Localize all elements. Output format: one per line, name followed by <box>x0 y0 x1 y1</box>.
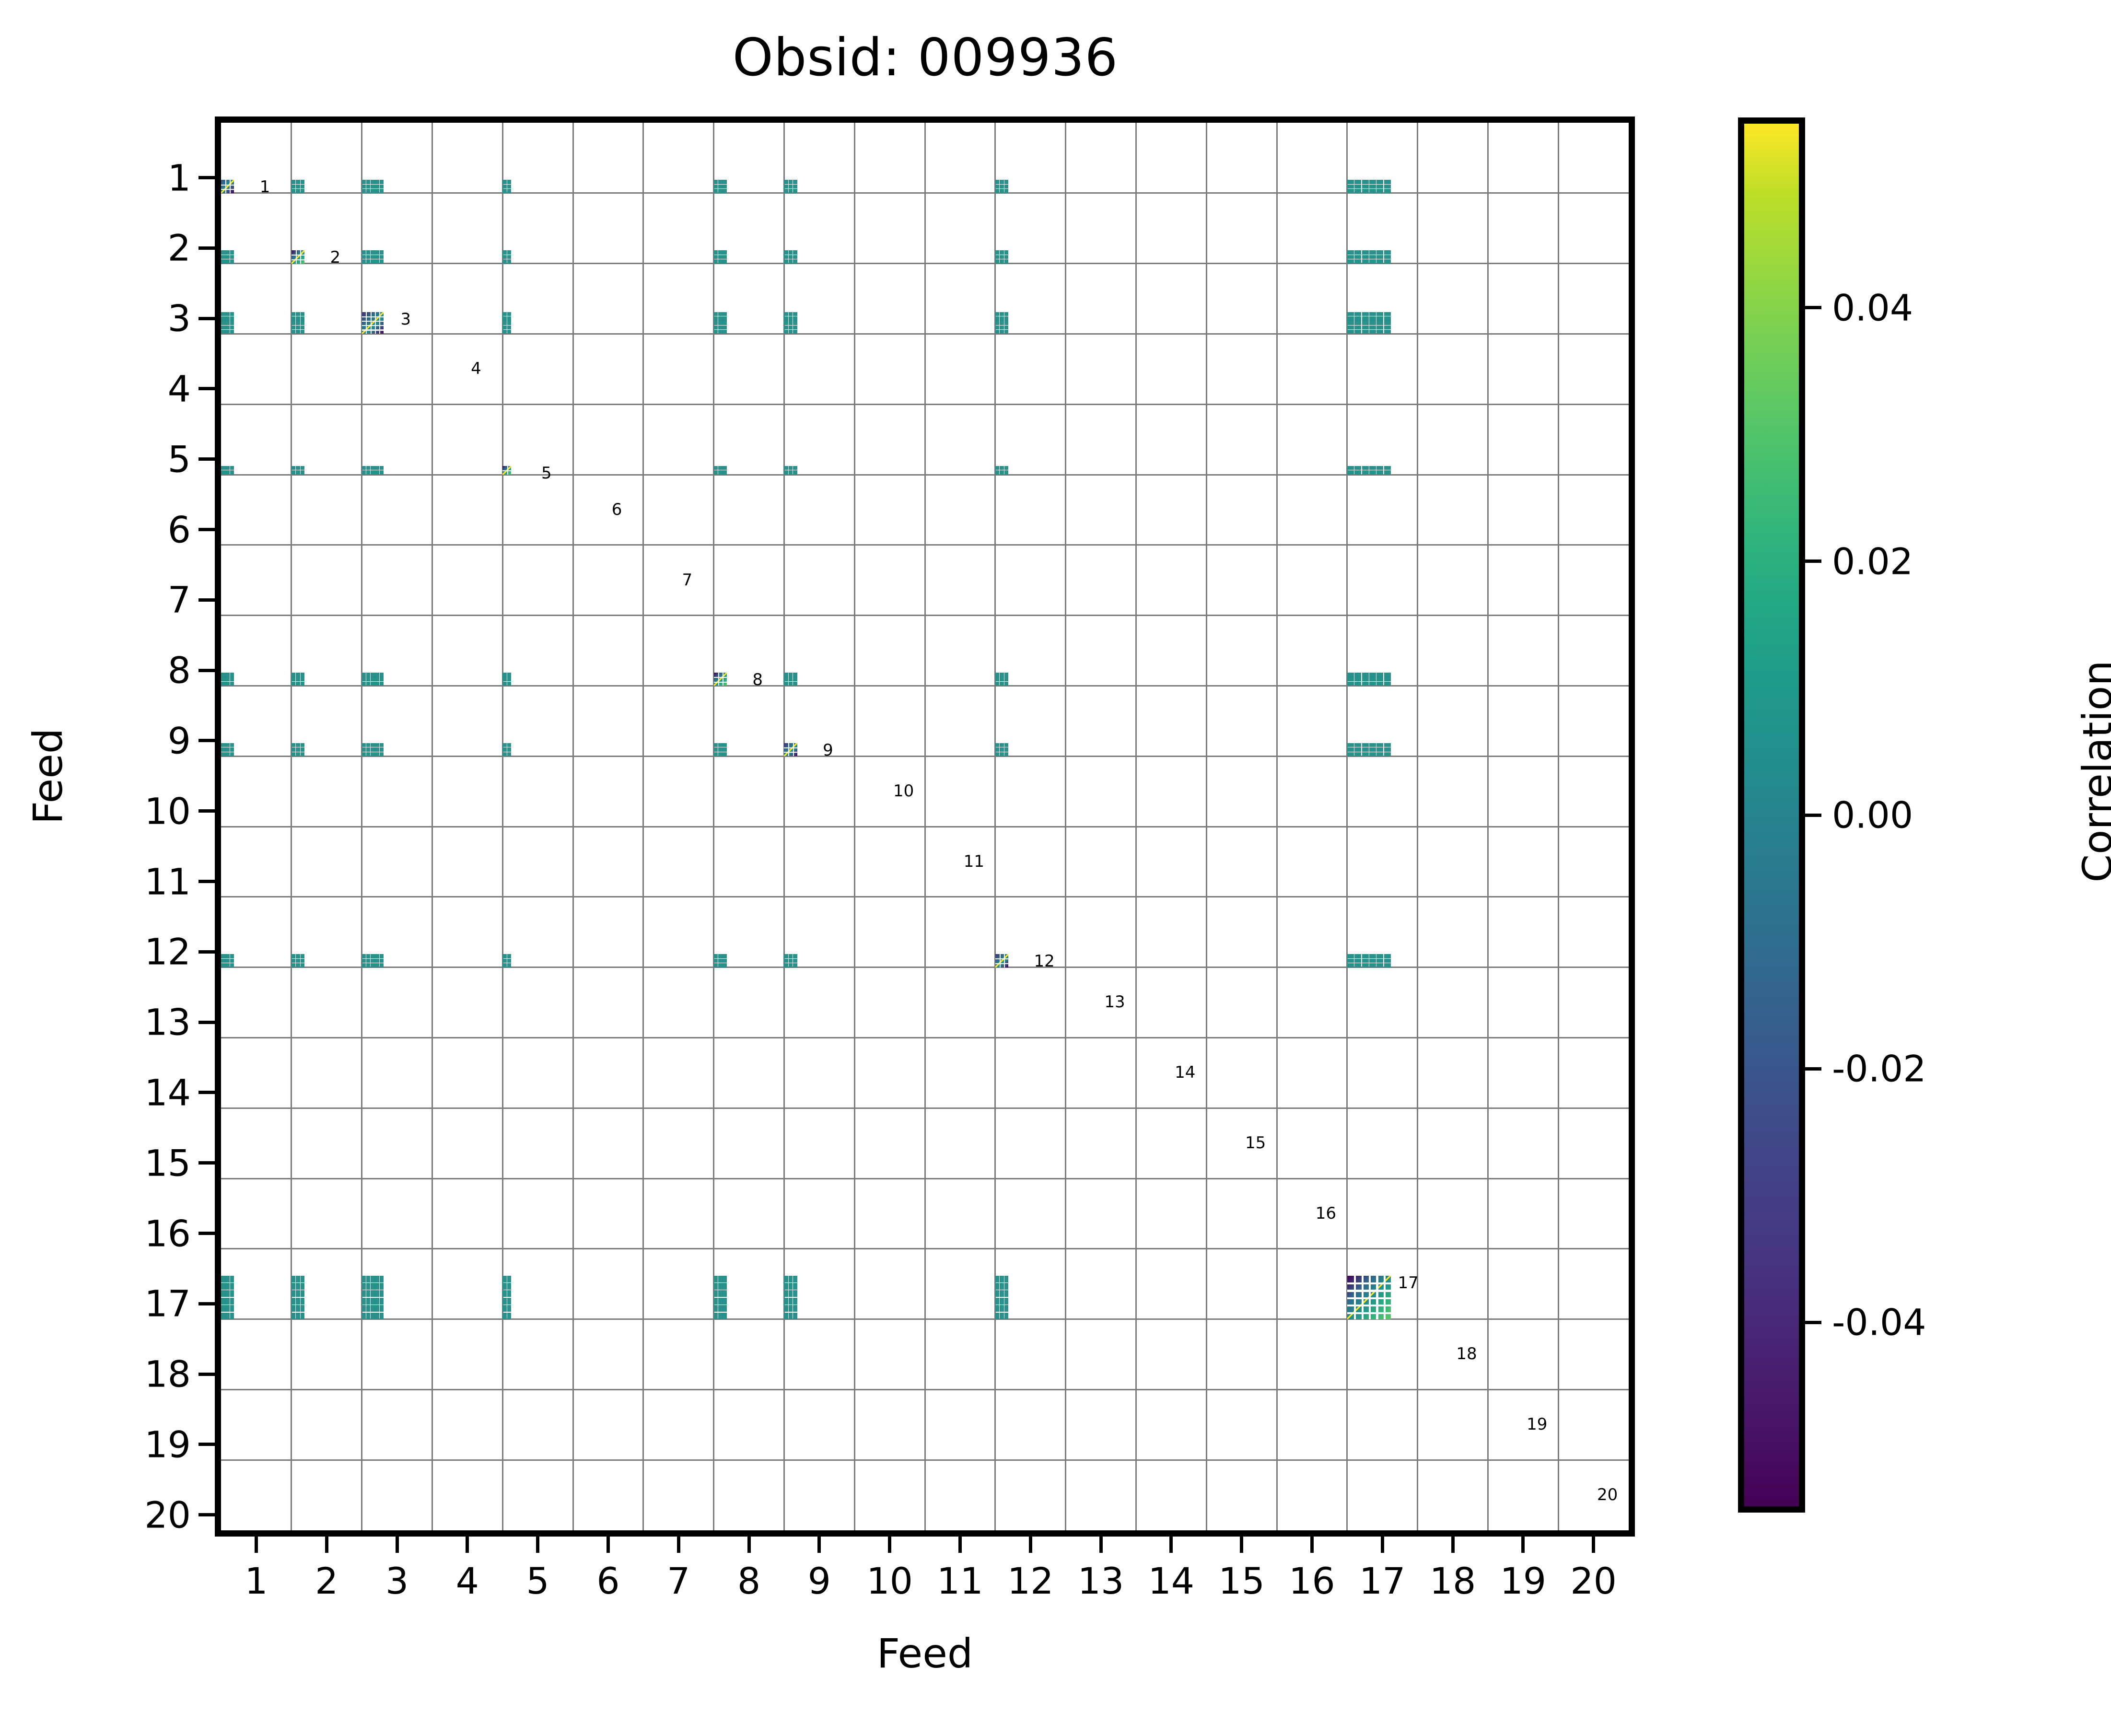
correlation-block <box>502 1305 507 1312</box>
correlation-block <box>1347 466 1354 470</box>
correlation-block <box>362 259 366 264</box>
y-tick-mark <box>198 739 215 742</box>
colorbar-tick-label: 0.04 <box>1832 286 1913 329</box>
correlation-block <box>793 1276 797 1282</box>
correlation-block <box>1376 682 1383 686</box>
correlation-block <box>380 1283 384 1290</box>
correlation-block <box>507 330 512 334</box>
correlation-block <box>301 321 305 325</box>
correlation-block <box>221 470 225 475</box>
correlation-block <box>714 330 718 334</box>
correlation-block <box>301 185 305 189</box>
correlation-block <box>301 189 305 193</box>
correlation-block <box>1000 1298 1004 1305</box>
correlation-block <box>718 316 723 320</box>
correlation-block <box>296 959 300 963</box>
x-tick-mark <box>1592 1537 1595 1553</box>
correlation-block <box>375 963 379 967</box>
correlation-block <box>507 673 512 677</box>
correlation-block <box>718 954 723 958</box>
x-tick-label: 13 <box>1078 1560 1124 1602</box>
correlation-block <box>301 1290 305 1297</box>
x-tick-mark <box>1381 1537 1384 1553</box>
correlation-block <box>221 959 225 963</box>
correlation-block <box>1362 752 1369 757</box>
sub-block-separator <box>300 250 301 263</box>
correlation-block <box>714 954 718 958</box>
correlation-block <box>230 466 234 470</box>
correlation-block <box>789 316 793 320</box>
correlation-block <box>502 1283 507 1290</box>
cell-index-label: 3 <box>400 311 411 327</box>
correlation-block <box>301 466 305 470</box>
correlation-block <box>784 954 788 958</box>
correlation-block <box>507 1276 512 1282</box>
y-tick-label: 10 <box>57 790 191 832</box>
correlation-block <box>718 1298 723 1305</box>
correlation-block <box>1004 1276 1009 1282</box>
correlation-block <box>292 747 296 752</box>
y-tick-mark <box>198 1373 215 1376</box>
correlation-block <box>507 185 512 189</box>
correlation-block <box>1347 180 1354 184</box>
correlation-block <box>225 954 230 958</box>
correlation-block <box>225 250 230 255</box>
correlation-block <box>1376 255 1383 259</box>
x-tick-label: 2 <box>315 1560 338 1602</box>
cell-index-label: 5 <box>541 465 552 481</box>
correlation-block <box>789 963 793 967</box>
correlation-block <box>366 1290 370 1297</box>
correlation-block <box>1000 250 1004 255</box>
correlation-block <box>1354 470 1361 475</box>
x-tick-mark <box>1451 1537 1455 1553</box>
correlation-block <box>1354 673 1361 677</box>
x-tick-mark <box>536 1537 539 1553</box>
colorbar <box>1738 117 1805 1513</box>
y-tick-mark <box>198 246 215 250</box>
correlation-block <box>723 255 727 259</box>
correlation-block <box>1004 743 1009 747</box>
correlation-block <box>714 1283 718 1290</box>
correlation-block <box>718 959 723 963</box>
correlation-block <box>366 255 370 259</box>
correlation-block <box>366 1313 370 1319</box>
correlation-block <box>371 963 374 967</box>
correlation-block <box>502 682 507 686</box>
correlation-block <box>1362 677 1369 681</box>
correlation-block <box>1000 752 1004 757</box>
correlation-block <box>995 326 1000 329</box>
correlation-block <box>230 255 234 259</box>
correlation-block <box>714 959 718 963</box>
correlation-block <box>1347 330 1354 334</box>
correlation-block <box>789 1305 793 1312</box>
correlation-block <box>1376 189 1383 193</box>
correlation-block <box>1000 255 1004 259</box>
colorbar-label: Correlation <box>2074 628 2111 915</box>
cell-index-label: 13 <box>1104 994 1125 1010</box>
correlation-block <box>1376 954 1383 958</box>
correlation-block <box>723 963 727 967</box>
correlation-block <box>714 963 718 967</box>
correlation-block <box>723 321 727 325</box>
y-tick-label: 20 <box>57 1493 191 1536</box>
correlation-block <box>375 250 379 255</box>
correlation-block <box>723 1283 727 1290</box>
sub-block-separator <box>362 316 384 317</box>
x-tick-mark <box>1310 1537 1314 1553</box>
correlation-block <box>718 250 723 255</box>
correlation-block <box>1376 470 1383 475</box>
sub-block-separator <box>1376 1276 1378 1319</box>
y-tick-mark <box>198 387 215 390</box>
correlation-block <box>221 1298 225 1305</box>
correlation-block <box>1362 963 1369 967</box>
correlation-block <box>995 677 1000 681</box>
correlation-block <box>784 250 788 255</box>
correlation-block <box>230 1283 234 1290</box>
y-tick-mark <box>198 457 215 461</box>
correlation-block <box>502 747 507 752</box>
correlation-block <box>1362 312 1369 316</box>
correlation-block <box>221 747 225 752</box>
correlation-block <box>296 682 300 686</box>
correlation-block <box>714 255 718 259</box>
colorbar-tick-mark <box>1805 559 1821 563</box>
correlation-block <box>1376 963 1383 967</box>
correlation-block <box>366 673 370 677</box>
correlation-block <box>225 259 230 264</box>
correlation-block <box>502 752 507 757</box>
correlation-block <box>789 466 793 470</box>
correlation-block <box>995 752 1000 757</box>
colorbar-tick-label: 0.00 <box>1832 794 1913 837</box>
correlation-block <box>292 1290 296 1297</box>
correlation-block <box>507 312 512 316</box>
correlation-block <box>1384 677 1391 681</box>
y-tick-label: 8 <box>57 649 191 692</box>
correlation-block <box>784 189 788 193</box>
correlation-block <box>1384 259 1391 264</box>
x-tick-mark <box>606 1537 610 1553</box>
correlation-block <box>375 959 379 963</box>
correlation-block <box>1000 180 1004 184</box>
correlation-block <box>793 963 797 967</box>
correlation-block <box>380 250 384 255</box>
correlation-block <box>1354 677 1361 681</box>
correlation-block <box>1004 677 1009 681</box>
correlation-block <box>296 312 300 316</box>
cell-index-label: 16 <box>1316 1205 1336 1222</box>
correlation-block <box>362 963 366 967</box>
correlation-block <box>1354 189 1361 193</box>
correlation-block <box>230 330 234 334</box>
correlation-block <box>1362 330 1369 334</box>
correlation-block <box>230 250 234 255</box>
correlation-block <box>230 954 234 958</box>
sub-block-separator <box>379 312 380 334</box>
sub-block-separator <box>507 466 508 475</box>
correlation-block <box>292 752 296 757</box>
correlation-block <box>789 330 793 334</box>
correlation-block <box>362 752 366 757</box>
correlation-block <box>296 326 300 329</box>
correlation-block <box>1384 316 1391 320</box>
correlation-block <box>723 189 727 193</box>
correlation-block <box>784 1313 788 1319</box>
correlation-block <box>296 747 300 752</box>
correlation-block <box>362 747 366 752</box>
correlation-block <box>995 470 1000 475</box>
correlation-block <box>784 185 788 189</box>
sub-block-separator <box>221 185 234 186</box>
correlation-block <box>1362 747 1369 752</box>
correlation-block <box>375 1298 379 1305</box>
sub-block-separator <box>995 958 1008 959</box>
y-tick-label: 11 <box>57 860 191 903</box>
correlation-block <box>723 954 727 958</box>
correlation-block <box>1362 466 1369 470</box>
cell-index-label: 1 <box>260 179 270 195</box>
correlation-block <box>1369 321 1376 325</box>
correlation-block <box>1369 259 1376 264</box>
correlation-block <box>292 954 296 958</box>
correlation-block <box>507 316 512 320</box>
correlation-block <box>225 673 230 677</box>
y-tick-mark <box>198 809 215 813</box>
correlation-block <box>221 677 225 681</box>
correlation-block <box>714 189 718 193</box>
correlation-block <box>380 1298 384 1305</box>
correlation-block <box>1004 1283 1009 1290</box>
correlation-block <box>225 1298 230 1305</box>
correlation-block <box>1004 752 1009 757</box>
correlation-block <box>301 959 305 963</box>
correlation-block <box>1004 673 1009 677</box>
correlation-block <box>292 963 296 967</box>
correlation-block <box>366 259 370 264</box>
correlation-block <box>793 682 797 686</box>
correlation-block <box>507 959 512 963</box>
correlation-block <box>221 1283 225 1290</box>
x-tick-label: 3 <box>385 1560 408 1602</box>
correlation-block <box>502 189 507 193</box>
y-tick-mark <box>198 528 215 531</box>
correlation-block <box>1354 326 1361 329</box>
correlation-block <box>371 677 374 681</box>
correlation-block <box>714 1290 718 1297</box>
correlation-block <box>507 326 512 329</box>
x-tick-label: 18 <box>1430 1560 1476 1602</box>
gridline-horizontal <box>221 1389 1629 1390</box>
x-tick-label: 4 <box>456 1560 479 1602</box>
correlation-block <box>1384 682 1391 686</box>
correlation-block <box>1362 255 1369 259</box>
correlation-block <box>362 1276 366 1282</box>
sub-block-separator <box>296 250 297 263</box>
correlation-block <box>1362 673 1369 677</box>
correlation-block <box>784 673 788 677</box>
sub-block-separator <box>1004 954 1005 967</box>
correlation-block <box>1376 673 1383 677</box>
cell-index-label: 18 <box>1456 1346 1477 1362</box>
correlation-block <box>221 1276 225 1282</box>
correlation-block <box>502 963 507 967</box>
correlation-block <box>718 1305 723 1312</box>
correlation-block <box>366 959 370 963</box>
correlation-block <box>366 250 370 255</box>
correlation-block <box>995 1313 1000 1319</box>
correlation-block <box>793 180 797 184</box>
correlation-block <box>1369 250 1376 255</box>
correlation-block <box>995 316 1000 320</box>
correlation-block <box>714 259 718 264</box>
correlation-block <box>221 330 225 334</box>
correlation-block <box>301 963 305 967</box>
correlation-block <box>502 185 507 189</box>
correlation-block <box>221 1290 225 1297</box>
correlation-block <box>1354 250 1361 255</box>
correlation-block <box>784 330 788 334</box>
correlation-block <box>301 312 305 316</box>
correlation-block <box>1004 312 1009 316</box>
correlation-block <box>995 1283 1000 1290</box>
correlation-block <box>1354 312 1361 316</box>
correlation-block <box>1362 250 1369 255</box>
correlation-block <box>1004 1298 1009 1305</box>
correlation-block <box>1004 185 1009 189</box>
correlation-block <box>1347 326 1354 329</box>
correlation-block <box>362 466 366 470</box>
y-tick-mark <box>198 598 215 602</box>
correlation-block <box>375 466 379 470</box>
correlation-block <box>1354 316 1361 320</box>
correlation-block <box>1376 743 1383 747</box>
correlation-block <box>292 185 296 189</box>
correlation-block <box>230 1298 234 1305</box>
correlation-block <box>371 470 374 475</box>
correlation-block <box>1004 747 1009 752</box>
y-tick-mark <box>198 1232 215 1235</box>
correlation-block <box>1347 470 1354 475</box>
correlation-block <box>1354 743 1361 747</box>
correlation-block <box>1000 259 1004 264</box>
correlation-block <box>723 312 727 316</box>
correlation-block <box>380 1305 384 1312</box>
colorbar-tick-mark <box>1805 814 1821 817</box>
correlation-block <box>718 1283 723 1290</box>
correlation-block <box>296 316 300 320</box>
correlation-block <box>718 189 723 193</box>
correlation-block <box>366 1305 370 1312</box>
x-tick-mark <box>817 1537 821 1553</box>
correlation-block <box>230 743 234 747</box>
correlation-block <box>362 255 366 259</box>
correlation-block <box>362 673 366 677</box>
correlation-block <box>718 326 723 329</box>
correlation-block <box>784 959 788 963</box>
correlation-block <box>714 1298 718 1305</box>
correlation-block <box>1376 959 1383 963</box>
y-tick-label: 18 <box>57 1353 191 1396</box>
correlation-block <box>301 743 305 747</box>
sub-block-separator <box>1362 1276 1364 1319</box>
correlation-block <box>1369 743 1376 747</box>
correlation-block <box>366 180 370 184</box>
correlation-block <box>362 959 366 963</box>
correlation-block <box>292 1276 296 1282</box>
y-tick-mark <box>198 669 215 672</box>
correlation-block <box>301 180 305 184</box>
correlation-block <box>995 312 1000 316</box>
correlation-block <box>362 1283 366 1290</box>
correlation-block <box>1000 682 1004 686</box>
correlation-block <box>723 1290 727 1297</box>
correlation-block <box>1347 963 1354 967</box>
correlation-block <box>714 321 718 325</box>
correlation-block <box>502 1313 507 1319</box>
correlation-block <box>380 954 384 958</box>
correlation-block <box>375 259 379 264</box>
correlation-block <box>1369 954 1376 958</box>
correlation-block <box>718 180 723 184</box>
correlation-block <box>507 963 512 967</box>
sub-block-separator <box>1000 954 1001 967</box>
correlation-block <box>502 959 507 963</box>
x-tick-label: 12 <box>1007 1560 1054 1602</box>
correlation-block <box>507 682 512 686</box>
correlation-block <box>301 747 305 752</box>
correlation-block <box>507 743 512 747</box>
correlation-block <box>995 1298 1000 1305</box>
correlation-block <box>375 677 379 681</box>
correlation-block <box>784 316 788 320</box>
y-tick-label: 12 <box>57 931 191 973</box>
correlation-block <box>507 677 512 681</box>
correlation-block <box>221 682 225 686</box>
sub-block-separator <box>793 743 794 756</box>
correlation-block <box>507 189 512 193</box>
correlation-block <box>380 673 384 677</box>
correlation-block <box>502 255 507 259</box>
correlation-block <box>793 466 797 470</box>
y-tick-label: 15 <box>57 1142 191 1184</box>
correlation-block <box>723 250 727 255</box>
correlation-block <box>718 255 723 259</box>
y-tick-mark <box>198 1021 215 1024</box>
cell-index-label: 19 <box>1527 1416 1547 1433</box>
correlation-block <box>1354 330 1361 334</box>
correlation-block <box>784 312 788 316</box>
correlation-block <box>1347 255 1354 259</box>
correlation-block <box>1362 316 1369 320</box>
correlation-block <box>793 1305 797 1312</box>
correlation-block <box>371 959 374 963</box>
correlation-block <box>1000 1283 1004 1290</box>
correlation-block <box>1376 466 1383 470</box>
correlation-block <box>1000 185 1004 189</box>
correlation-block <box>793 255 797 259</box>
x-tick-label: 6 <box>596 1560 619 1602</box>
correlation-block <box>1354 255 1361 259</box>
correlation-block <box>371 682 374 686</box>
correlation-block <box>789 1290 793 1297</box>
correlation-block <box>507 1313 512 1319</box>
diagonal-correlation-block <box>292 250 304 263</box>
correlation-block <box>723 1298 727 1305</box>
correlation-block <box>1369 185 1376 189</box>
